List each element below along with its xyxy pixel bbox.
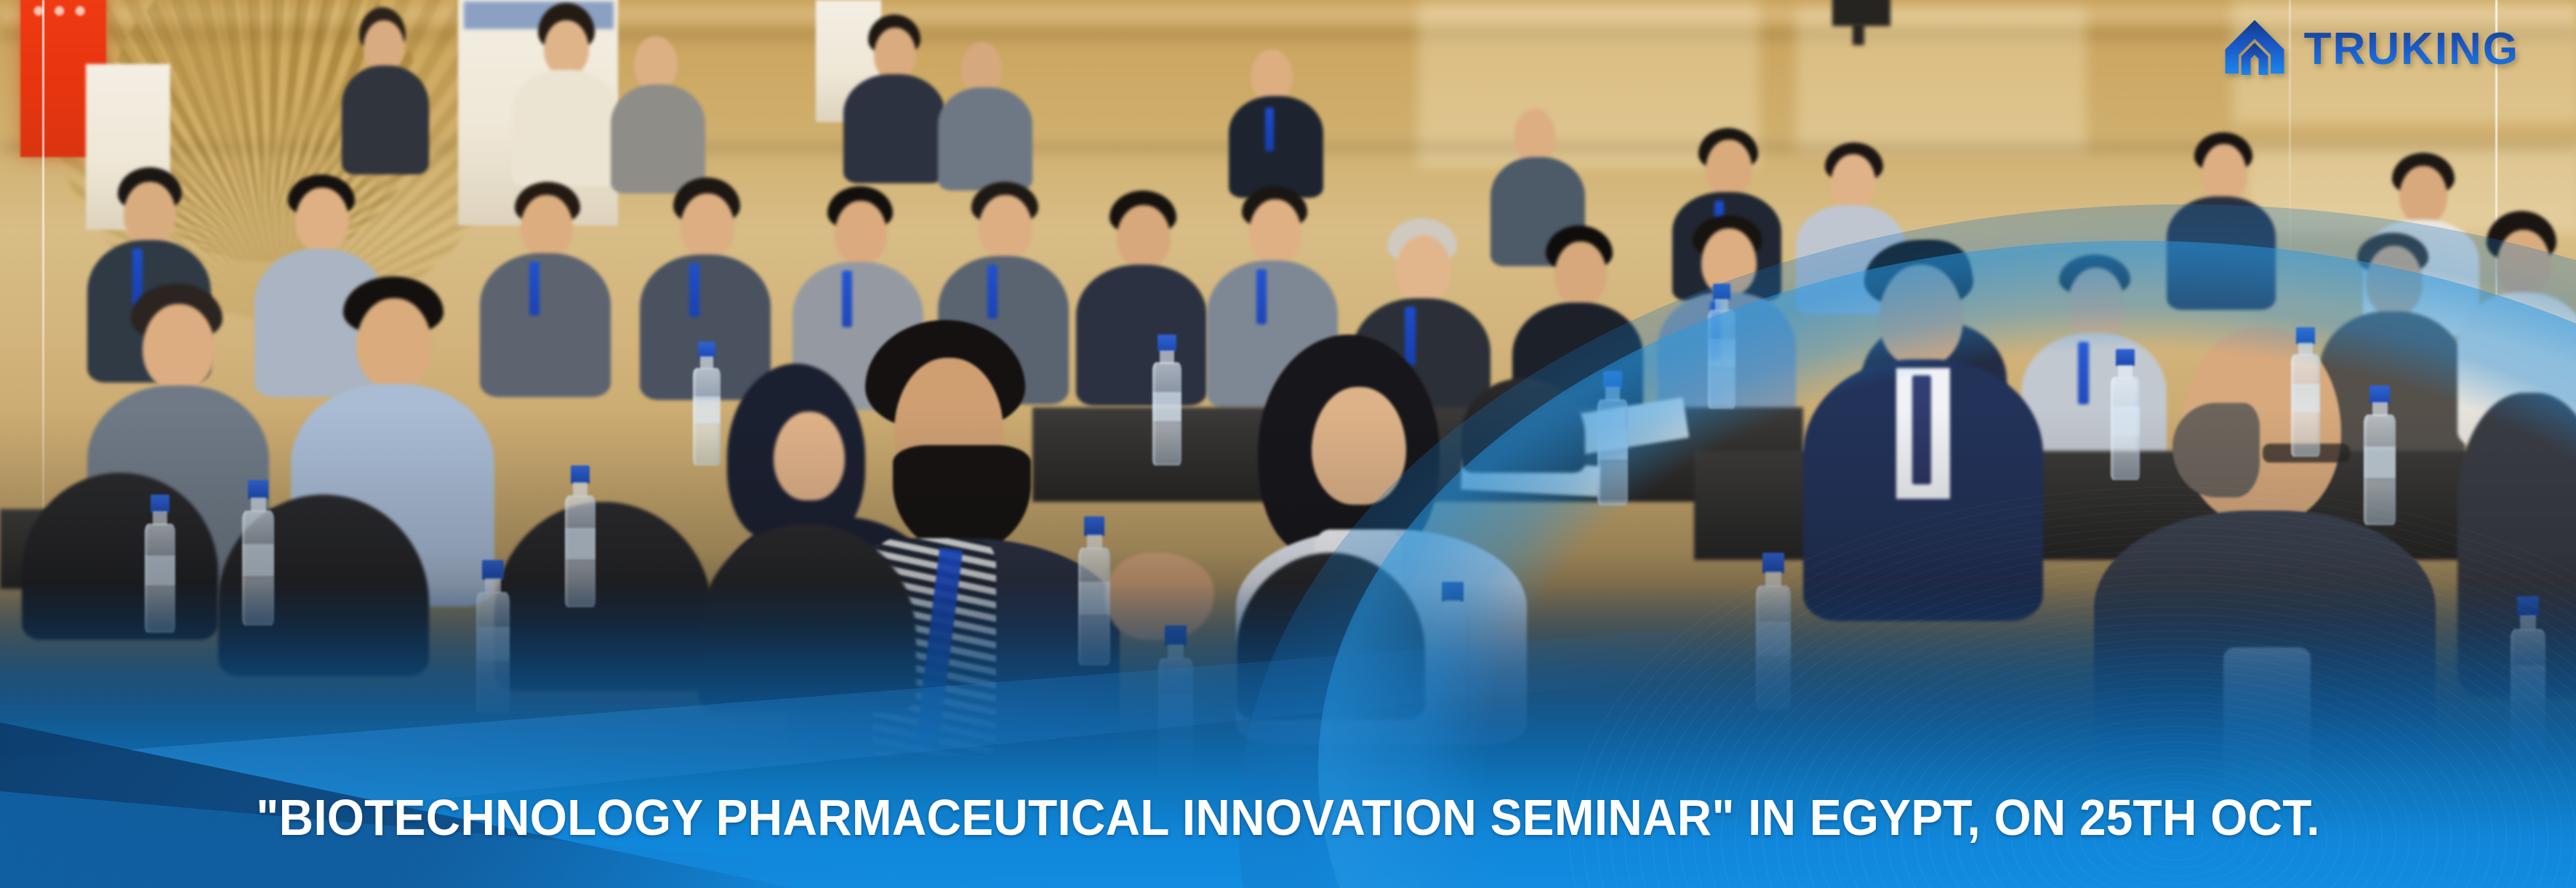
audience-member: [342, 7, 429, 175]
water-bottle: [1434, 582, 1472, 731]
water-bottle: [2508, 596, 2548, 753]
water-bottle: [563, 465, 598, 607]
truking-logo[interactable]: TRUKING: [2221, 16, 2519, 83]
water-bottle: [1150, 335, 1184, 465]
water-bottle: [691, 342, 723, 465]
water-bottle: [1076, 516, 1112, 665]
wall-panel: [1796, 7, 2087, 153]
audience-member-front: [1803, 240, 2043, 618]
event-banner: "BIOTECHNOLOGY PHARMACEUTICAL INNOVATION…: [0, 0, 2576, 888]
water-bottle: [2289, 327, 2322, 457]
audience-member: [480, 182, 611, 393]
ceiling-speaker-box: [1832, 0, 1890, 26]
water-bottle: [1595, 371, 1630, 505]
audience-member: [611, 36, 705, 189]
audience-member: [1229, 49, 1323, 195]
water-bottle: [1754, 553, 1793, 709]
truking-wordmark: TRUKING: [2304, 27, 2519, 72]
water-bottle: [2108, 349, 2142, 480]
audience-member: [2167, 132, 2276, 307]
water-bottle: [1156, 625, 1195, 782]
audience-member: [843, 15, 945, 182]
water-bottle: [240, 480, 276, 625]
audience-member: [938, 42, 1032, 188]
water-bottle: [143, 495, 177, 633]
audience-member: [509, 3, 618, 185]
water-bottle: [474, 560, 512, 713]
water-bottle: [2362, 385, 2398, 525]
conference-audience-photo: [0, 0, 2576, 888]
water-bottle: [1706, 284, 1738, 409]
truking-diamond-arrow-icon: [2221, 16, 2288, 83]
red-banner-lettering: [28, 0, 97, 22]
ceiling-mount-bracket: [1853, 23, 1864, 45]
